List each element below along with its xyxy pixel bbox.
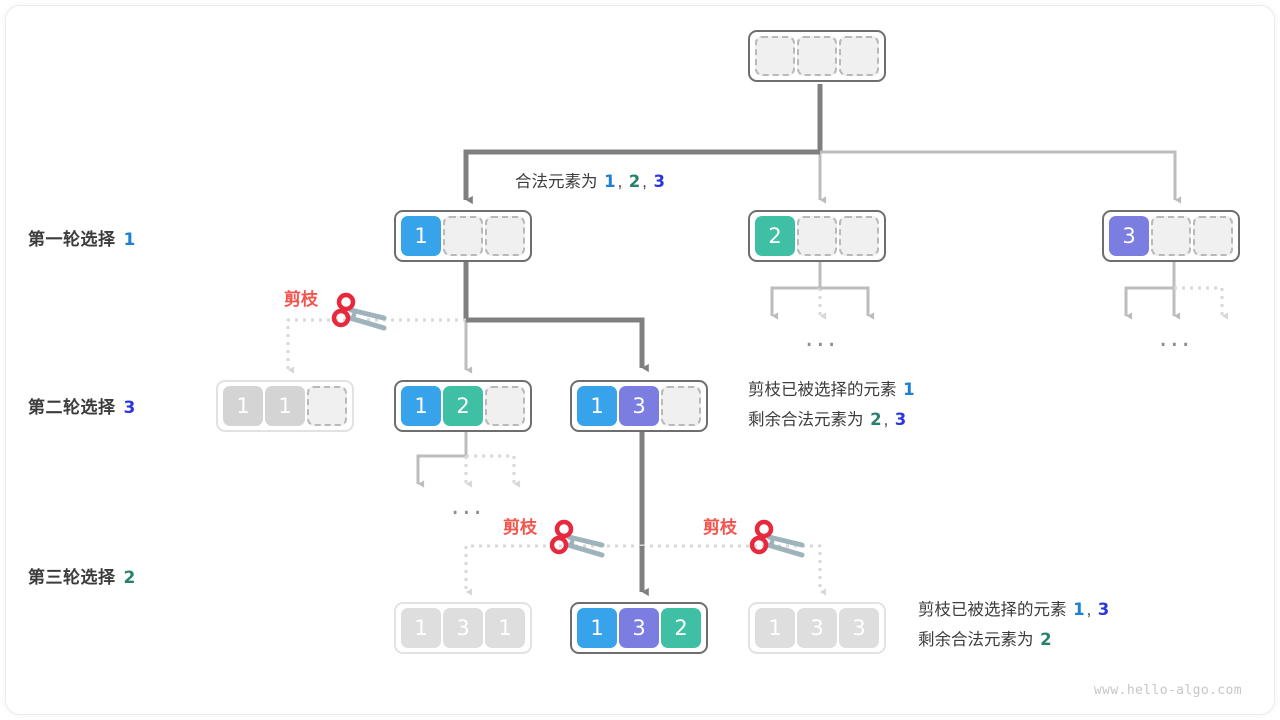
cell-r2b-1: 2 — [443, 386, 483, 426]
ellipsis-2: ... — [1159, 325, 1193, 351]
node-r1a[interactable]: 1 — [394, 210, 532, 262]
cell-r3b-1: 3 — [619, 608, 659, 648]
cell-r3c-1: 3 — [797, 608, 837, 648]
ellipsis-3: ... — [451, 493, 485, 519]
note-row2-line2: 剩余合法元素为 2, 3 — [748, 405, 917, 435]
row-label-1-num: 1 — [124, 230, 136, 250]
node-r3b[interactable]: 1 3 2 — [570, 602, 708, 654]
row-label-2: 第二轮选择3 — [28, 393, 136, 418]
node-r1b[interactable]: 2 — [748, 210, 886, 262]
comma-3: , — [884, 411, 889, 429]
cell-r2c-1: 3 — [619, 386, 659, 426]
note-row3-l2-v1: 2 — [1040, 630, 1051, 649]
note-row2-l2-v1: 2 — [870, 410, 881, 429]
cell-root-0 — [755, 36, 795, 76]
cell-r2a-1: 1 — [265, 386, 305, 426]
cell-r3c-0: 1 — [755, 608, 795, 648]
note-row2-line1: 剪枝已被选择的元素 1 — [748, 375, 917, 405]
cell-r1c-2 — [1193, 216, 1233, 256]
node-root[interactable] — [748, 30, 886, 82]
scissors-icon-2 — [548, 517, 608, 565]
comma-2: , — [642, 173, 647, 191]
node-r3c-pruned[interactable]: 1 3 3 — [748, 602, 886, 654]
row-label-3: 第三轮选择2 — [28, 563, 136, 588]
note-row2-l1-v1: 1 — [903, 380, 914, 399]
cell-r1b-0: 2 — [755, 216, 795, 256]
cell-r1c-1 — [1151, 216, 1191, 256]
note-legal-v2: 2 — [629, 172, 640, 191]
comma-1: , — [618, 173, 623, 191]
row-label-1: 第一轮选择1 — [28, 225, 136, 250]
row-label-3-num: 2 — [124, 568, 136, 588]
cell-r2b-2 — [485, 386, 525, 426]
cell-r3b-2: 2 — [661, 608, 701, 648]
note-row2-l2-prefix: 剩余合法元素为 — [748, 411, 864, 429]
diagram-canvas: 第一轮选择1 第二轮选择3 第三轮选择2 合法元素为 1, 2, 3 剪枝已被选… — [0, 0, 1280, 720]
note-row2-l1-prefix: 剪枝已被选择的元素 — [748, 381, 897, 399]
row-label-2-text: 第二轮选择 — [28, 398, 116, 417]
cell-root-1 — [797, 36, 837, 76]
cell-r1a-0: 1 — [401, 216, 441, 256]
node-r2c[interactable]: 1 3 — [570, 380, 708, 432]
cell-r3a-2: 1 — [485, 608, 525, 648]
note-row3-line2: 剩余合法元素为 2 — [918, 625, 1111, 655]
cell-r2c-2 — [661, 386, 701, 426]
cell-root-2 — [839, 36, 879, 76]
cell-r1c-0: 3 — [1109, 216, 1149, 256]
node-r2a-pruned[interactable]: 1 1 — [216, 380, 354, 432]
note-row2: 剪枝已被选择的元素 1 剩余合法元素为 2, 3 — [748, 375, 917, 435]
cell-r3c-2: 3 — [839, 608, 879, 648]
prune-label-3: 剪枝 — [703, 513, 737, 538]
note-row3-l2-prefix: 剩余合法元素为 — [918, 631, 1034, 649]
note-row3-line1: 剪枝已被选择的元素 1, 3 — [918, 595, 1111, 625]
watermark: www.hello-algo.com — [1094, 683, 1242, 698]
cell-r3b-0: 1 — [577, 608, 617, 648]
cell-r2a-0: 1 — [223, 386, 263, 426]
node-r3a-pruned[interactable]: 1 3 1 — [394, 602, 532, 654]
cell-r1a-1 — [443, 216, 483, 256]
cell-r1b-1 — [797, 216, 837, 256]
cell-r2a-2 — [307, 386, 347, 426]
cell-r2b-0: 1 — [401, 386, 441, 426]
note-row3-l1-v2: 3 — [1098, 600, 1109, 619]
row-label-2-num: 3 — [124, 398, 136, 418]
comma-4: , — [1087, 601, 1092, 619]
note-legal-elements: 合法元素为 1, 2, 3 — [515, 167, 667, 197]
scissors-icon-1 — [330, 290, 390, 338]
node-r2b[interactable]: 1 2 — [394, 380, 532, 432]
cell-r3a-0: 1 — [401, 608, 441, 648]
cell-r2c-0: 1 — [577, 386, 617, 426]
note-row3: 剪枝已被选择的元素 1, 3 剩余合法元素为 2 — [918, 595, 1111, 655]
row-label-1-text: 第一轮选择 — [28, 230, 116, 249]
note-row2-l2-v2: 3 — [895, 410, 906, 429]
note-row3-l1-prefix: 剪枝已被选择的元素 — [918, 601, 1067, 619]
row-label-3-text: 第三轮选择 — [28, 568, 116, 587]
cell-r1a-2 — [485, 216, 525, 256]
note-row3-l1-v1: 1 — [1073, 600, 1084, 619]
prune-label-1: 剪枝 — [284, 285, 318, 310]
note-legal-v3: 3 — [653, 172, 664, 191]
scissors-icon-3 — [748, 517, 808, 565]
cell-r3a-1: 3 — [443, 608, 483, 648]
note-legal-v1: 1 — [604, 172, 615, 191]
cell-r1b-2 — [839, 216, 879, 256]
note-legal-prefix: 合法元素为 — [515, 173, 598, 191]
node-r1c[interactable]: 3 — [1102, 210, 1240, 262]
prune-label-2: 剪枝 — [503, 513, 537, 538]
ellipsis-1: ... — [805, 325, 839, 351]
